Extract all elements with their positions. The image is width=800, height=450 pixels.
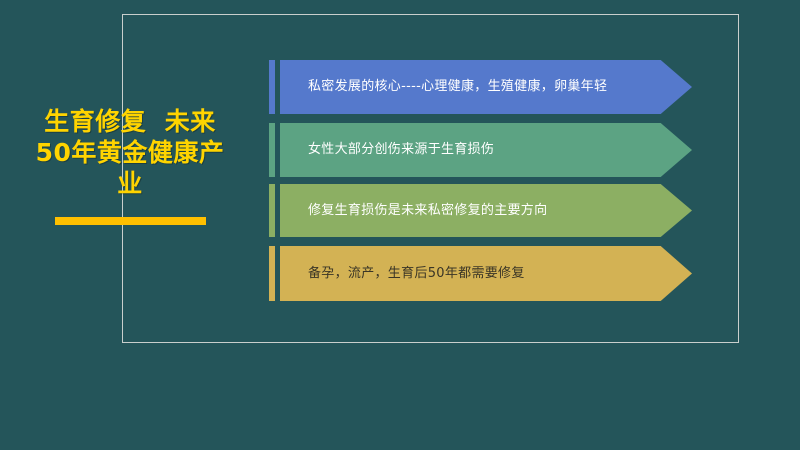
page-title: 生育修复 未来50年黄金健康产业 [30, 106, 230, 199]
arrow-item-3[interactable]: 修复生育损伤是未来私密修复的主要方向 [269, 184, 692, 237]
arrow-item-1[interactable]: 私密发展的核心----心理健康，生殖健康，卵巢年轻 [269, 60, 692, 114]
arrow-accent-bar-2 [269, 123, 275, 177]
arrow-label-4: 备孕，流产，生育后50年都需要修复 [280, 265, 559, 283]
arrow-item-4[interactable]: 备孕，流产，生育后50年都需要修复 [269, 246, 692, 301]
arrow-label-3: 修复生育损伤是未来私密修复的主要方向 [280, 202, 581, 220]
slide-canvas: 生育修复 未来50年黄金健康产业 私密发展的核心----心理健康，生殖健康，卵巢… [0, 0, 800, 450]
title-block: 生育修复 未来50年黄金健康产业 [30, 106, 230, 199]
arrow-accent-bar-4 [269, 246, 275, 301]
arrow-label-2: 女性大部分创伤来源于生育损伤 [280, 141, 528, 159]
arrow-shape-1: 私密发展的核心----心理健康，生殖健康，卵巢年轻 [280, 60, 692, 114]
arrow-label-1: 私密发展的核心----心理健康，生殖健康，卵巢年轻 [280, 78, 641, 96]
arrow-accent-bar-3 [269, 184, 275, 237]
arrow-shape-4: 备孕，流产，生育后50年都需要修复 [280, 246, 692, 301]
arrow-accent-bar-1 [269, 60, 275, 114]
arrow-item-2[interactable]: 女性大部分创伤来源于生育损伤 [269, 123, 692, 177]
arrow-shape-3: 修复生育损伤是未来私密修复的主要方向 [280, 184, 692, 237]
arrow-shape-2: 女性大部分创伤来源于生育损伤 [280, 123, 692, 177]
title-underline-rule [55, 217, 206, 225]
